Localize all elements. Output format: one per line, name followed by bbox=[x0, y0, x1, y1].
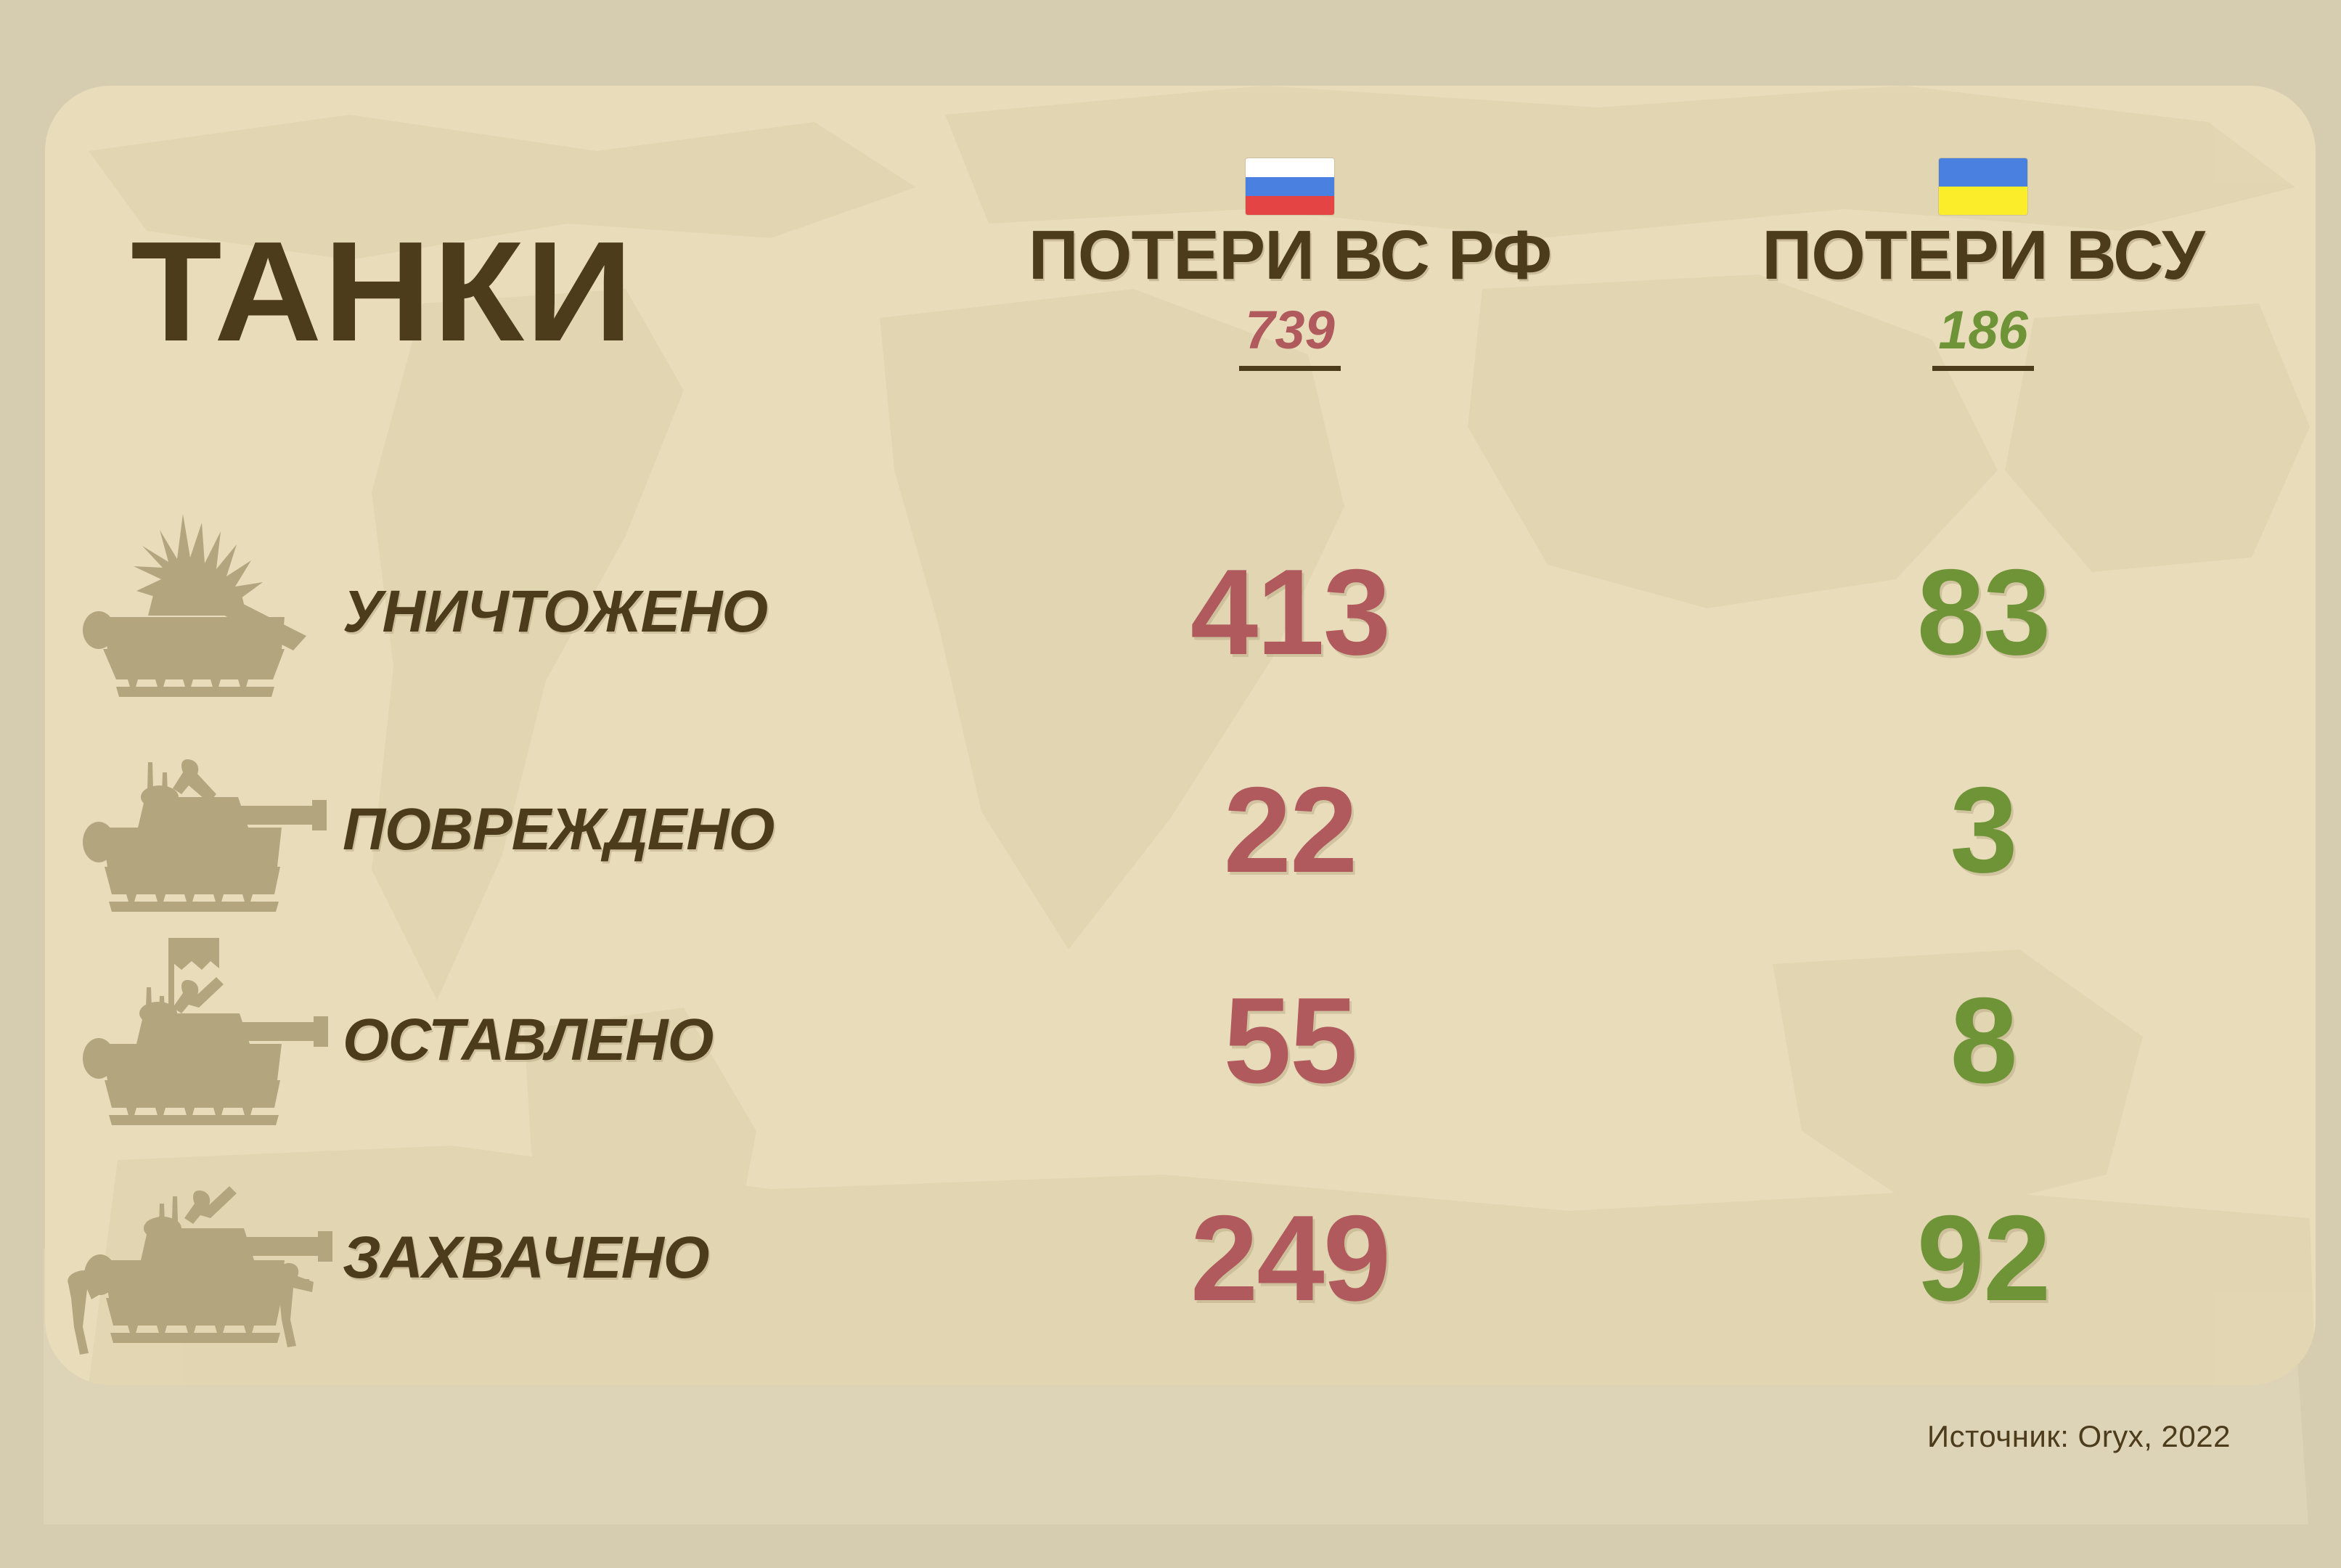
row-label-abandoned: ОСТАВЛЕНО bbox=[343, 935, 713, 1146]
row-label-destroyed: УНИЧТОЖЕНО bbox=[343, 507, 767, 717]
russia-flag-icon bbox=[1246, 158, 1334, 215]
source-attribution: Источник: Oryx, 2022 bbox=[1927, 1419, 2231, 1454]
table-row: ОСТАВЛЕНО 55 8 bbox=[45, 935, 2316, 1146]
column-total-ukraine: 186 bbox=[1932, 303, 2033, 371]
value-ukraine-captured: 92 bbox=[1664, 1153, 2303, 1363]
value-russia-captured: 249 bbox=[971, 1153, 1609, 1363]
column-total-russia: 739 bbox=[1239, 303, 1340, 371]
value-russia-damaged: 22 bbox=[971, 724, 1609, 935]
column-label-ukraine: ПОТЕРИ ВСУ bbox=[1664, 219, 2303, 292]
content-card: ТАНКИ ПОТЕРИ ВС РФ 739 ПОТЕРИ ВСУ 186 bbox=[45, 86, 2316, 1385]
table-row: УНИЧТОЖЕНО 413 83 bbox=[45, 507, 2316, 717]
tank-abandoned-icon bbox=[67, 935, 357, 1146]
tank-captured-icon bbox=[67, 1153, 357, 1363]
tank-destroyed-icon bbox=[67, 507, 357, 717]
value-ukraine-damaged: 3 bbox=[1664, 724, 2303, 935]
page-title: ТАНКИ bbox=[131, 221, 634, 363]
column-header-ukraine: ПОТЕРИ ВСУ 186 bbox=[1664, 158, 2303, 371]
value-ukraine-abandoned: 8 bbox=[1664, 935, 2303, 1146]
ukraine-flag-icon bbox=[1939, 158, 2027, 215]
row-label-captured: ЗАХВАЧЕНО bbox=[343, 1153, 709, 1363]
column-label-russia: ПОТЕРИ ВС РФ bbox=[971, 219, 1609, 292]
table-row: ПОВРЕЖДЕНО 22 3 bbox=[45, 724, 2316, 935]
table-row: ЗАХВАЧЕНО 249 92 bbox=[45, 1153, 2316, 1363]
infographic-canvas: ТАНКИ ПОТЕРИ ВС РФ 739 ПОТЕРИ ВСУ 186 bbox=[0, 0, 2341, 1568]
column-header-russia: ПОТЕРИ ВС РФ 739 bbox=[971, 158, 1609, 371]
value-russia-abandoned: 55 bbox=[971, 935, 1609, 1146]
value-russia-destroyed: 413 bbox=[971, 507, 1609, 717]
row-label-damaged: ПОВРЕЖДЕНО bbox=[343, 724, 774, 935]
value-ukraine-destroyed: 83 bbox=[1664, 507, 2303, 717]
tank-damaged-icon bbox=[67, 724, 357, 935]
